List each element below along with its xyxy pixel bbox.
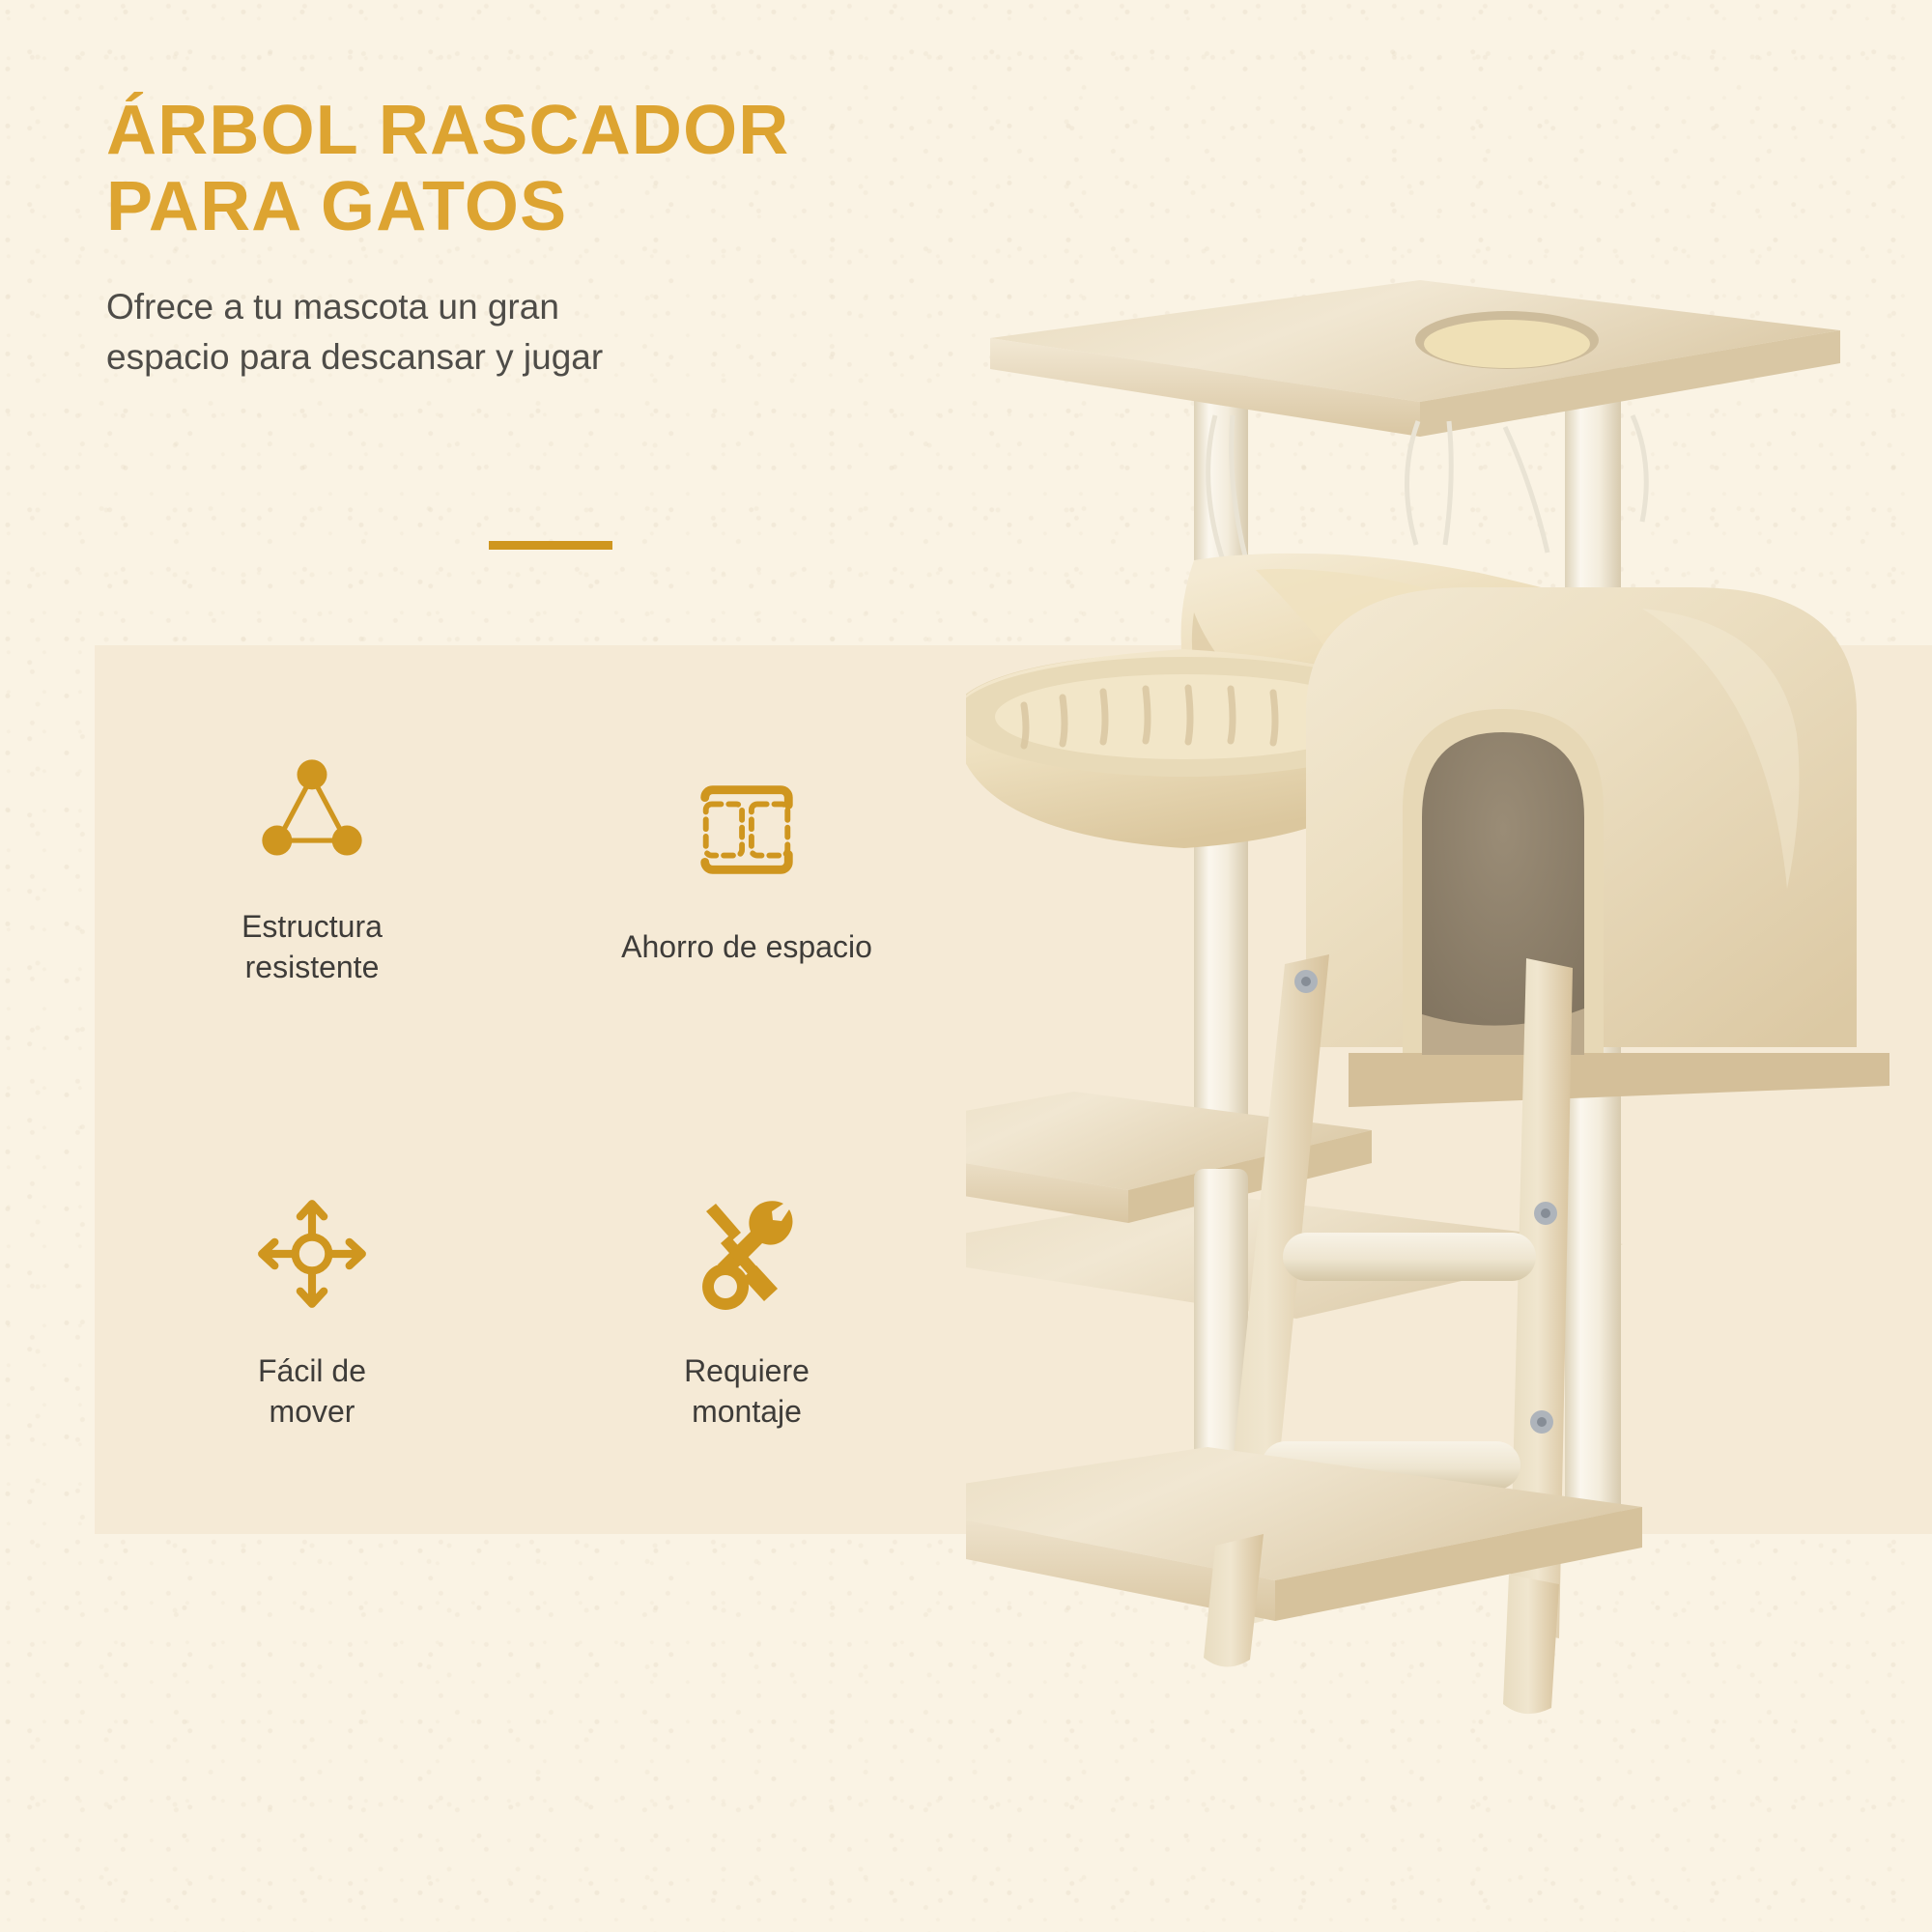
feature-item-sturdy-structure: Estructura resistente [95,645,529,1090]
infographic-page: ÁRBOL RASCADOR PARA GATOS Ofrece a tu ma… [0,0,1932,1932]
assembly-required-icon [684,1191,810,1317]
top-platform-with-hole [990,280,1840,437]
feature-item-space-saving: Ahorro de espacio [529,645,964,1090]
sturdy-structure-icon [249,747,375,872]
feature-item-easy-to-move: Fácil de mover [95,1090,529,1534]
easy-to-move-icon [249,1191,375,1317]
feature-label: Ahorro de espacio [621,927,872,968]
feature-label: Estructura resistente [241,907,383,987]
page-subtitle: Ofrece a tu mascota un gran espacio para… [106,282,956,383]
sisal-post-rear-lower [1565,1130,1621,1526]
feature-label: Requiere montaje [684,1351,810,1432]
header-block: ÁRBOL RASCADOR PARA GATOS Ofrece a tu ma… [106,93,956,383]
accent-divider [489,541,612,550]
page-title: ÁRBOL RASCADOR PARA GATOS [106,93,956,245]
feature-grid: Estructura resistente Ahorro de espacio [95,645,964,1534]
space-saving-icon [684,767,810,893]
feature-label: Fácil de mover [258,1351,366,1432]
product-image-cat-tree [966,222,1932,1864]
condo-house-with-arched-door [1306,587,1889,1107]
feature-item-assembly-required: Requiere montaje [529,1090,964,1534]
